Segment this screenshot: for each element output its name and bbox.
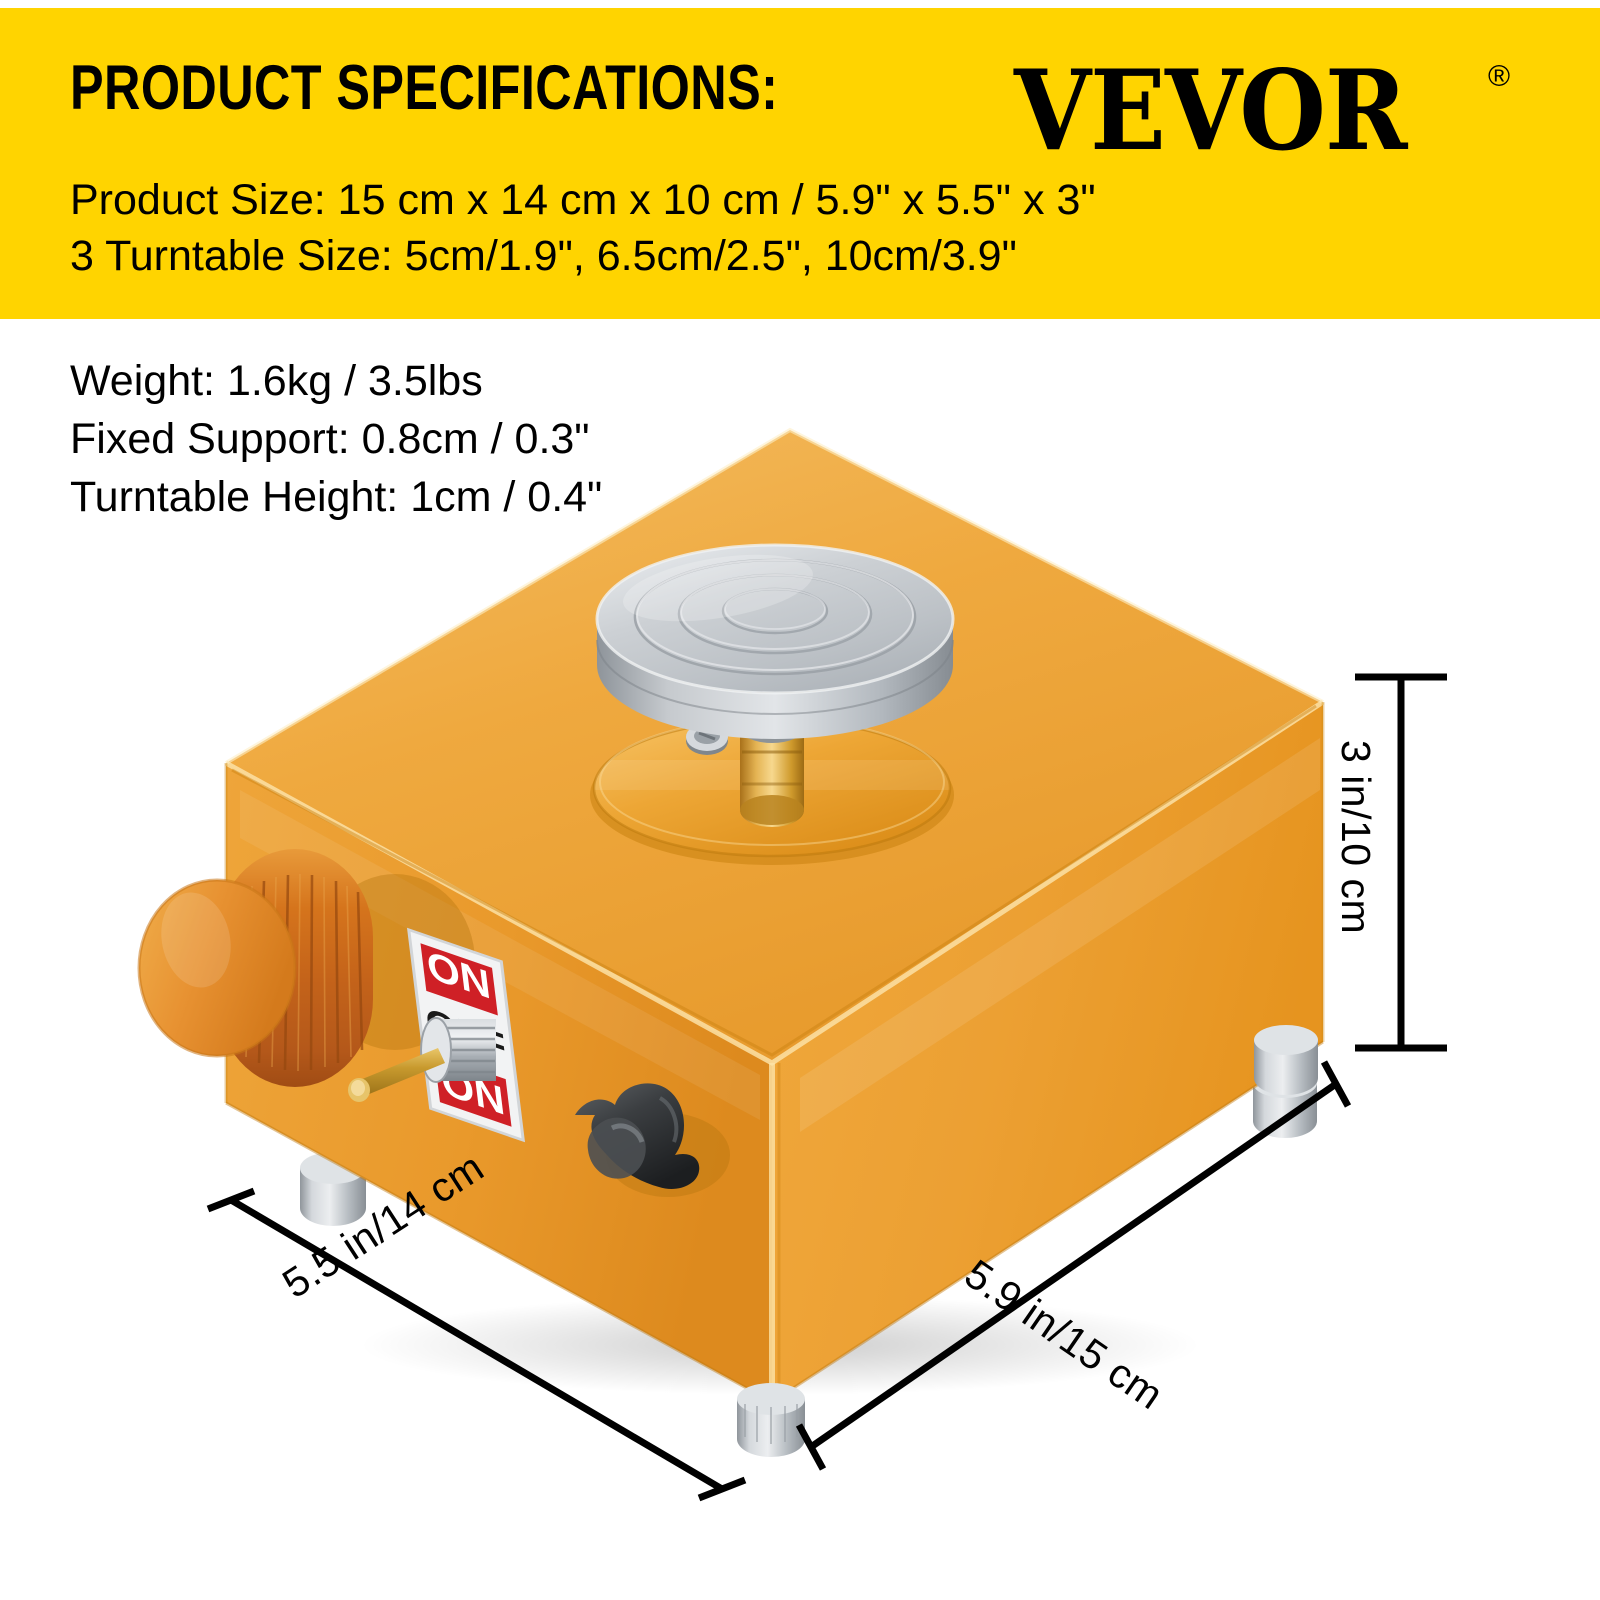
foot-front-center	[737, 1383, 805, 1457]
foot-right	[1254, 1025, 1318, 1095]
toggle-bushing	[421, 1018, 496, 1082]
turntable-disc	[597, 543, 953, 739]
dimension-label-height: 3 in/10 cm	[1335, 740, 1376, 934]
